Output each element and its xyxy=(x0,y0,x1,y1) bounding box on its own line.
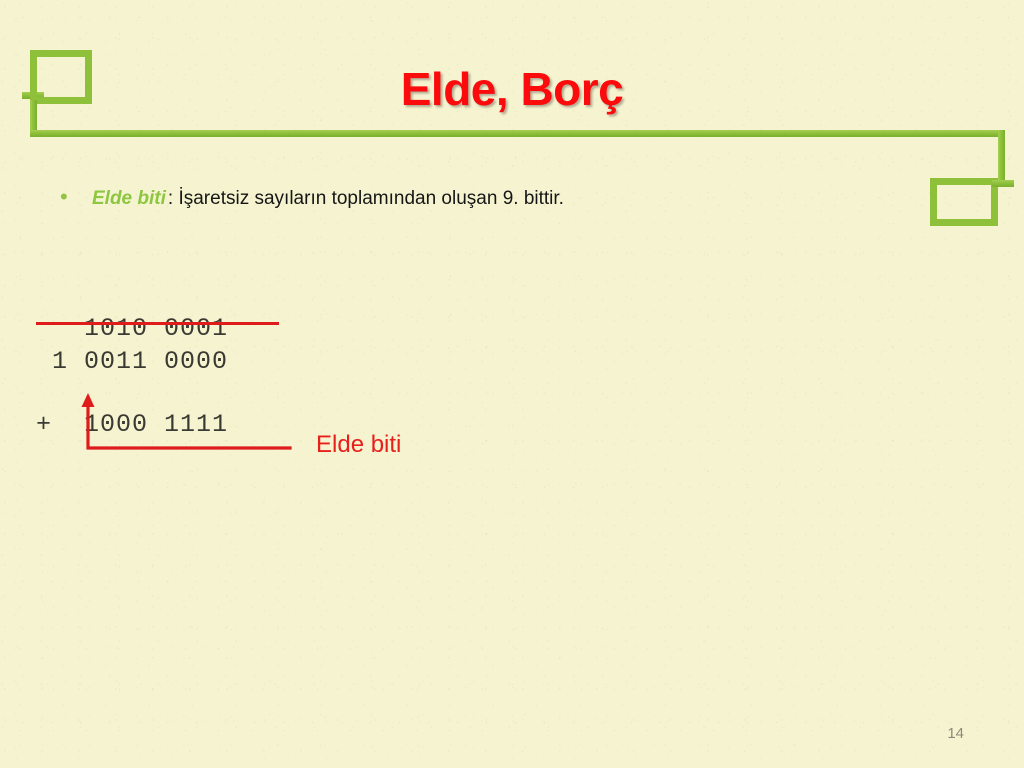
up-left-elbow-arrow-icon xyxy=(70,388,310,468)
frame-right-vertical-connector xyxy=(998,130,1005,185)
bullet-description: : İşaretsiz sayıların toplamından oluşan… xyxy=(168,188,564,209)
bullet-term: Elde biti xyxy=(92,188,166,209)
frame-title-underline xyxy=(30,130,1005,137)
slide-canvas: Elde, Borç • Elde biti: İşaretsiz sayıla… xyxy=(0,0,1024,768)
addition-rule-line xyxy=(36,322,279,325)
frame-right-stub-tick xyxy=(992,180,1014,187)
callout-label: Elde biti xyxy=(316,431,401,459)
page-number: 14 xyxy=(947,725,964,742)
slide-title: Elde, Borç xyxy=(0,62,1024,116)
operand-row-1: 1010 0001 xyxy=(36,313,228,345)
bullet-item: • Elde biti: İşaretsiz sayıların toplamı… xyxy=(60,186,960,210)
bullet-marker-icon: • xyxy=(60,186,92,208)
binary-addition-result: 1 0011 0000 xyxy=(36,347,228,376)
